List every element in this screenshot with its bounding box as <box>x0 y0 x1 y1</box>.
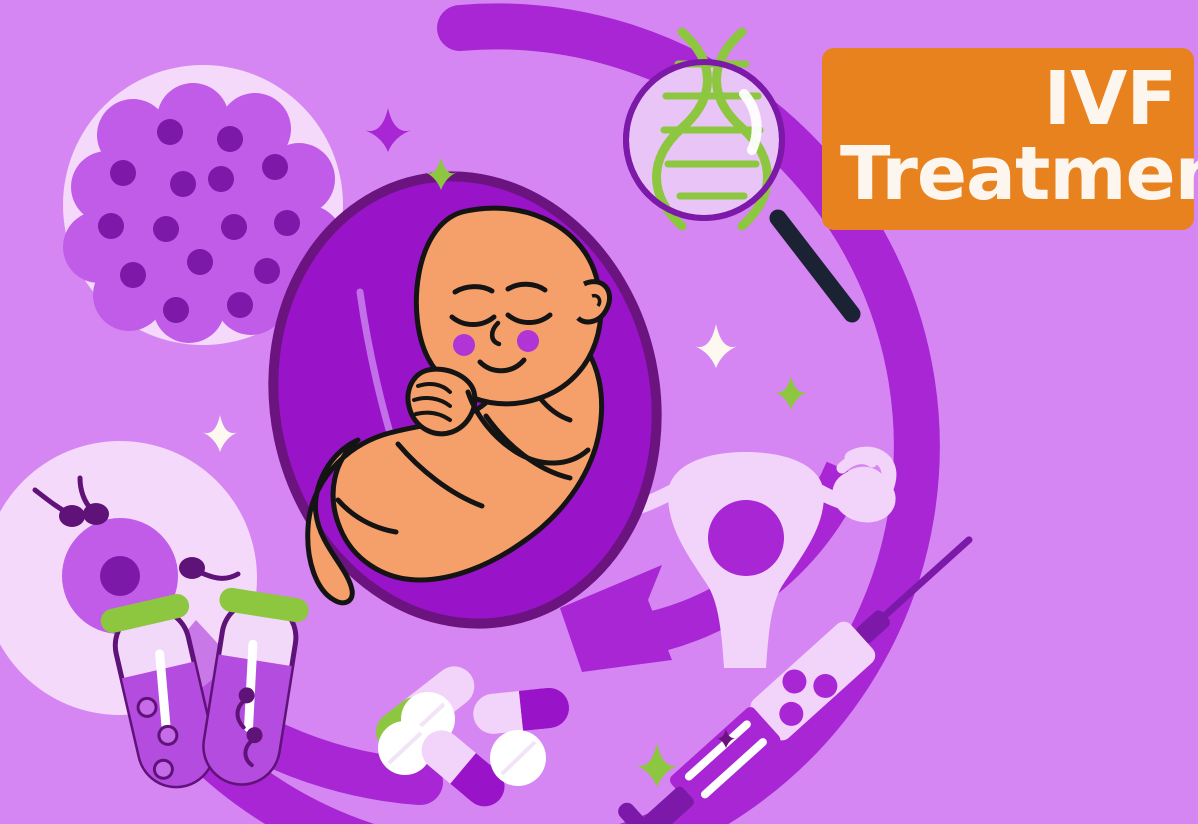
title-line-1: IVF <box>840 63 1176 136</box>
baby-cheek-right <box>517 330 539 352</box>
baby-cheek-left <box>453 334 475 356</box>
fimbriae-right <box>842 459 878 480</box>
title-badge: IVF Treatment <box>822 48 1194 230</box>
tablet-white-right <box>490 730 546 786</box>
egg-nucleus <box>100 556 140 596</box>
uterus-cavity <box>708 500 784 576</box>
poster-canvas: IVF Treatment <box>0 0 1198 824</box>
title-line-2: Treatment <box>840 138 1176 211</box>
